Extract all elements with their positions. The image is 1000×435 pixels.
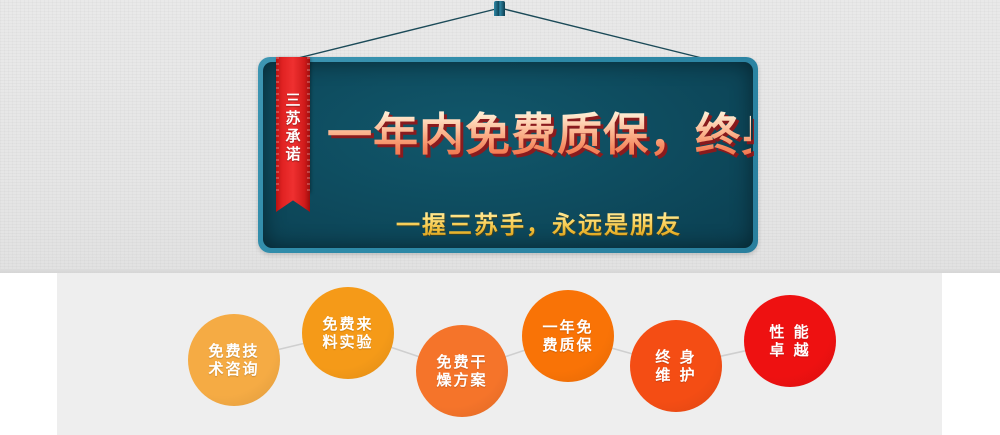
promise-circle-label: 终 身维 护 bbox=[655, 348, 696, 385]
promise-circle-label-line1: 性 能 bbox=[769, 323, 810, 341]
top-texture-band: 三苏承诺 一年内免费质保，终身维护 一握三苏手，永远是朋友 bbox=[0, 0, 1000, 273]
signboard-inner-panel: 三苏承诺 一年内免费质保，终身维护 一握三苏手，永远是朋友 bbox=[263, 62, 753, 248]
promise-circle-label: 一年免费质保 bbox=[542, 318, 593, 355]
promise-circle-4[interactable]: 一年免费质保 bbox=[522, 290, 614, 382]
promise-circle-label-line2: 卓 越 bbox=[769, 341, 810, 359]
ribbon-label: 三苏承诺 bbox=[276, 64, 310, 192]
promise-circle-label-line2: 费质保 bbox=[542, 336, 593, 354]
promise-circle-label: 免费来料实验 bbox=[322, 315, 373, 352]
promise-circle-label-line1: 免费来 bbox=[322, 315, 373, 333]
promise-circle-label-line2: 维 护 bbox=[655, 366, 696, 384]
ribbon-tail-icon bbox=[276, 192, 310, 212]
promise-circle-2[interactable]: 免费来料实验 bbox=[302, 287, 394, 379]
promise-circle-5[interactable]: 终 身维 护 bbox=[630, 320, 722, 412]
promise-circle-label: 免费技术咨询 bbox=[208, 342, 259, 379]
promise-circle-3[interactable]: 免费干燥方案 bbox=[416, 325, 508, 417]
promise-signboard: 三苏承诺 一年内免费质保，终身维护 一握三苏手，永远是朋友 bbox=[258, 57, 758, 253]
promise-circle-label-line1: 免费技 bbox=[208, 342, 259, 360]
promise-circle-label-line1: 终 身 bbox=[655, 348, 696, 366]
banner-subline: 一握三苏手，永远是朋友 bbox=[327, 205, 751, 240]
hanging-nail-icon bbox=[494, 1, 505, 16]
promise-circle-label: 免费干燥方案 bbox=[436, 353, 487, 390]
banner-headline: 一年内免费质保，终身维护 bbox=[327, 98, 751, 163]
promise-circle-label-line2: 料实验 bbox=[322, 333, 373, 351]
promise-circle-6[interactable]: 性 能卓 越 bbox=[744, 295, 836, 387]
promise-circle-label: 性 能卓 越 bbox=[769, 323, 810, 360]
promise-circle-label-line2: 燥方案 bbox=[436, 371, 487, 389]
promise-circle-label-line1: 一年免 bbox=[542, 318, 593, 336]
promise-circle-1[interactable]: 免费技术咨询 bbox=[188, 314, 280, 406]
promise-circle-label-line2: 术咨询 bbox=[208, 360, 259, 378]
promise-circle-label-line1: 免费干 bbox=[436, 353, 487, 371]
